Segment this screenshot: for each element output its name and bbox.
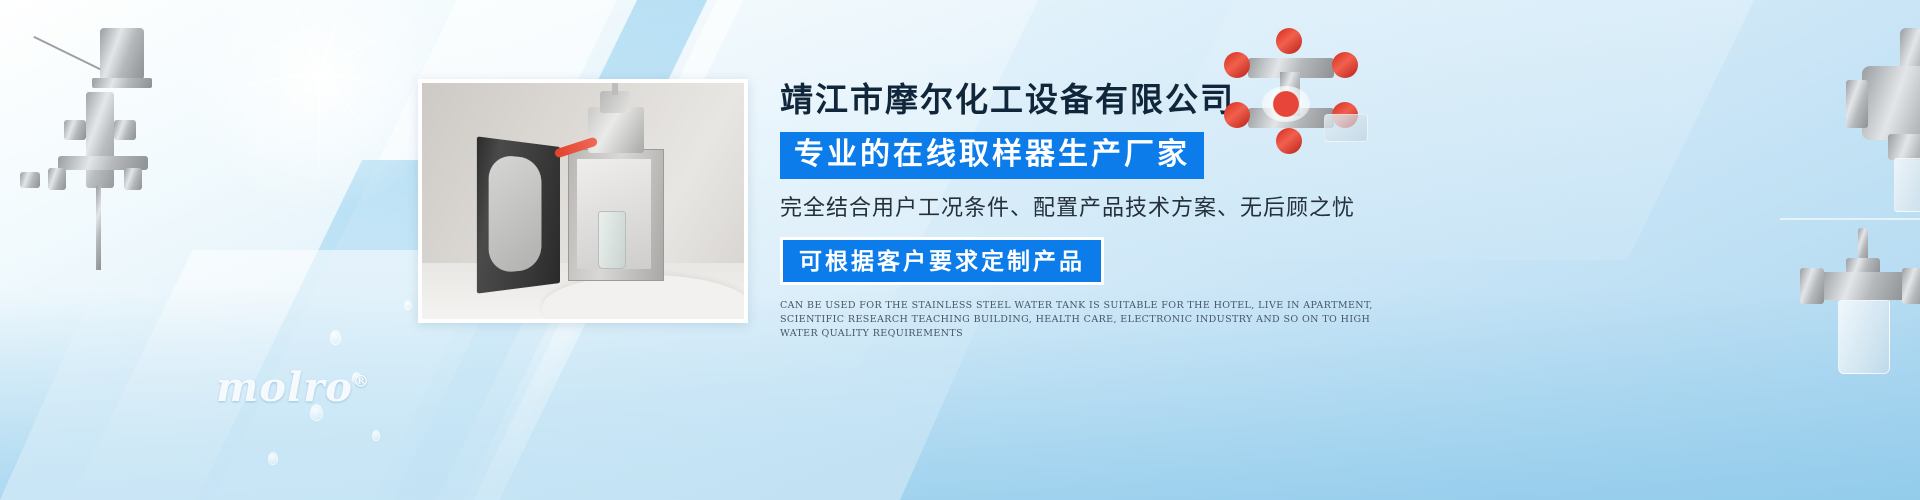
english-description: CAN BE USED FOR THE STAINLESS STEEL WATE… — [780, 299, 1385, 341]
sub-headline: 完全结合用户工况条件、配置产品技术方案、无后顾之忧 — [780, 193, 1400, 223]
headline-badge: 专业的在线取样器生产厂家 — [780, 132, 1204, 179]
product-photo — [418, 79, 748, 323]
water-droplet-icon — [372, 430, 380, 441]
promo-banner: 靖江市摩尔化工设备有限公司 专业的在线取样器生产厂家 完全结合用户工况条件、配置… — [0, 0, 1920, 500]
watermark-text: molro — [216, 364, 353, 411]
registered-mark-icon: ® — [353, 372, 370, 391]
sun-ray-icon — [318, 72, 320, 192]
custom-product-badge: 可根据客户要求定制产品 — [780, 237, 1104, 285]
water-droplet-icon — [268, 452, 278, 465]
water-droplet-icon — [330, 330, 341, 345]
watermark-logo: molro® — [216, 364, 370, 411]
water-droplet-icon — [404, 300, 412, 310]
